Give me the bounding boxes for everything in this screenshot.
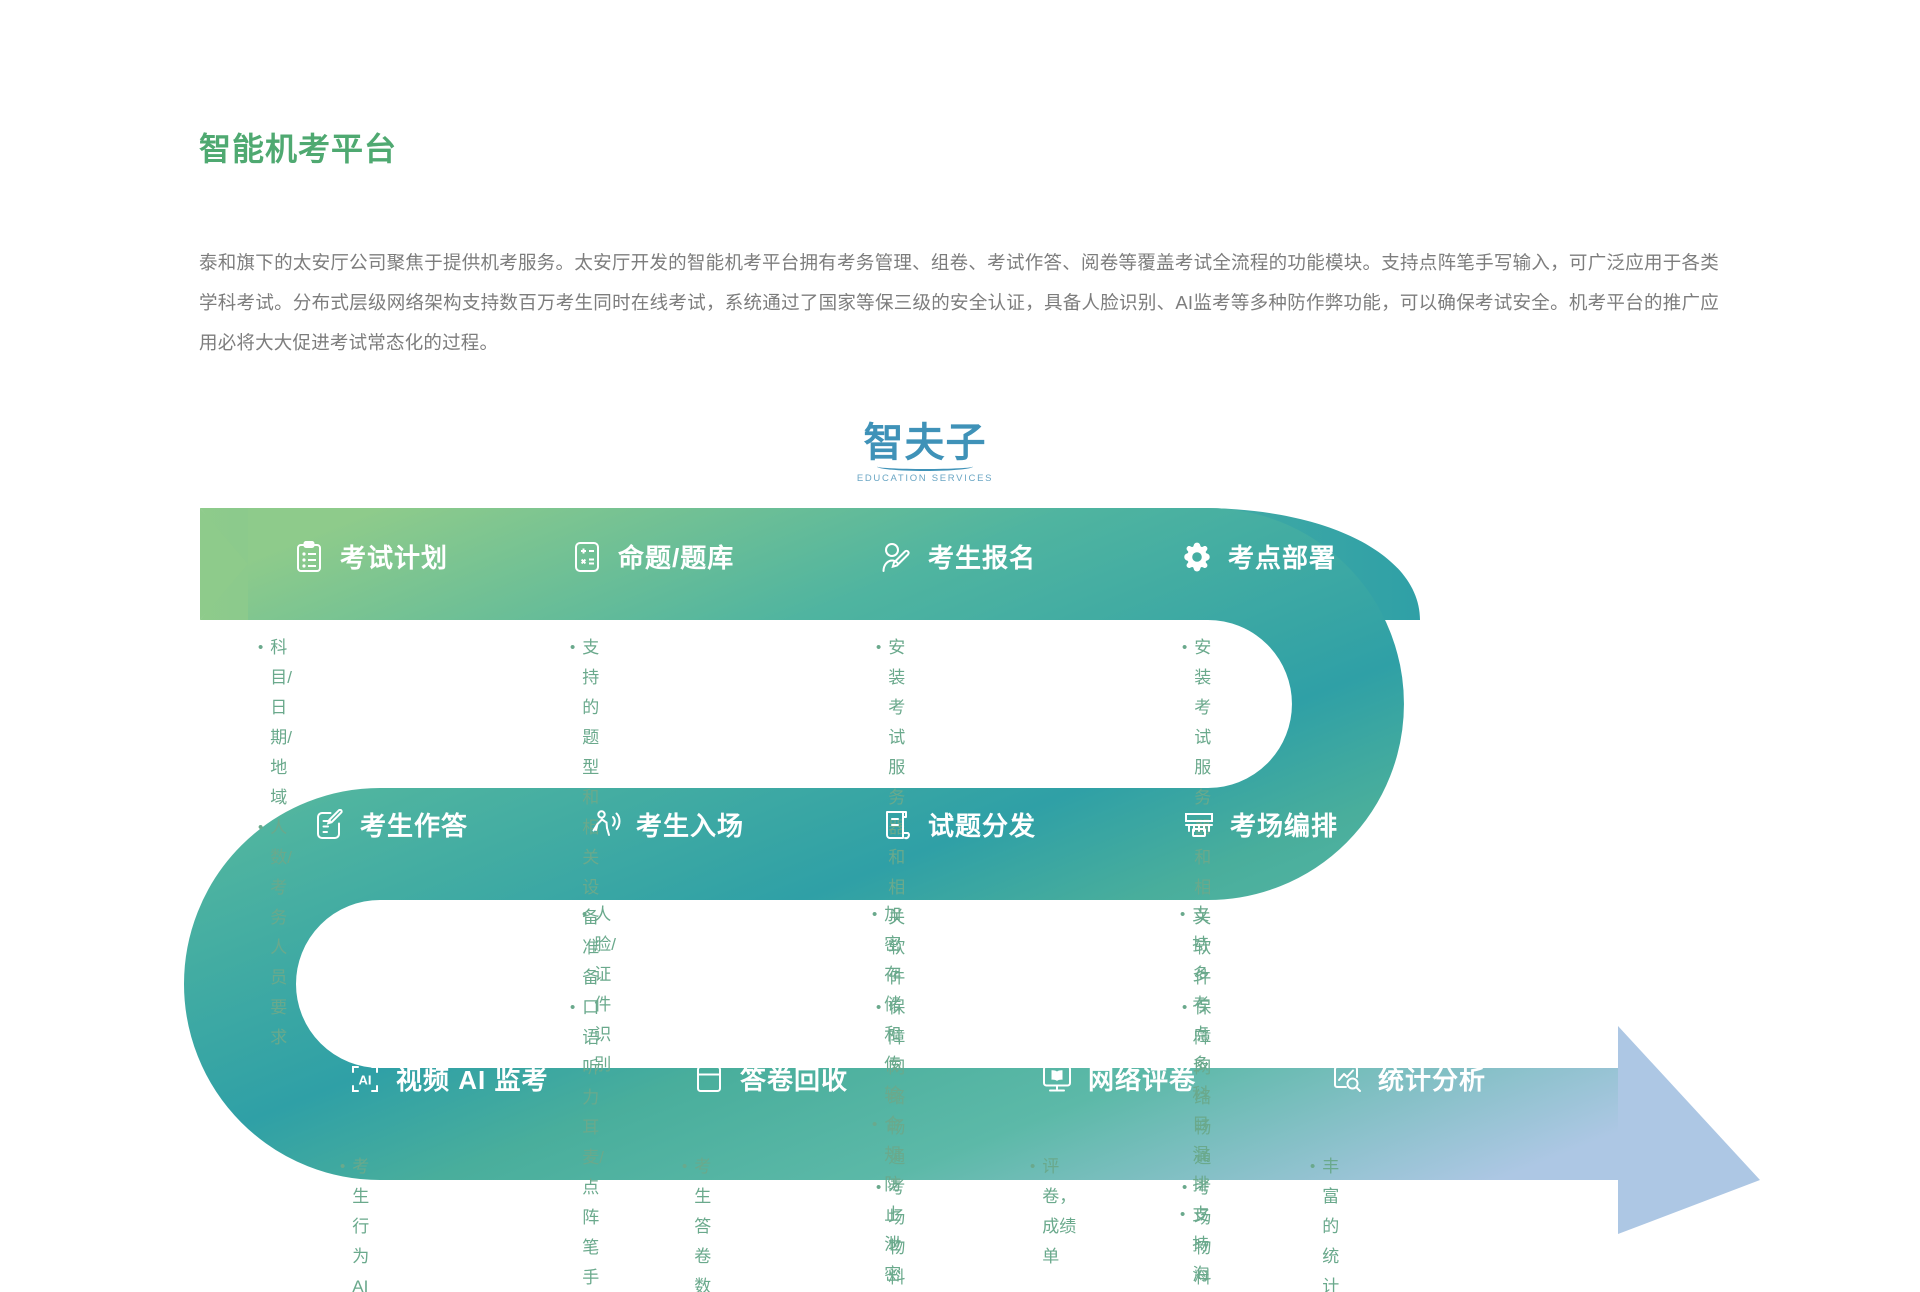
bullet-dot-icon: • (872, 1110, 877, 1140)
flow-step-label: 视频 AI 监考 (396, 1060, 548, 1097)
flow-step-bullets: •丰富的统计分析内容 对命题和考生评价提供支持 (1310, 1152, 1339, 1292)
bullet-item: •支持海量考生同时考试 (1180, 1200, 1209, 1292)
bullet-dot-icon: • (682, 1152, 687, 1182)
bullet-text: 合规防止泄密和不当使用 (884, 1110, 901, 1292)
flow-step-header: 考生报名 (880, 538, 1036, 575)
chart-search-icon (1330, 1062, 1364, 1096)
bullet-item: •考生答卷数据完整性保障 (682, 1152, 711, 1292)
bullet-dot-icon: • (258, 813, 263, 843)
calculator-icon (570, 540, 604, 574)
bullet-item: •评卷，成绩单 (1030, 1152, 1076, 1272)
page-root: 智能机考平台 泰和旗下的太安厅公司聚焦于提供机考服务。太安厅开发的智能机考平台拥… (0, 0, 1920, 1292)
bullet-dot-icon: • (1180, 1200, 1185, 1230)
bullet-text: 考生行为AI分析自动预警 (352, 1152, 369, 1292)
bullet-item: •考生行为AI分析自动预警 (340, 1152, 369, 1292)
person-walking-icon (588, 808, 622, 842)
logo-wordmark: 智夫子 (855, 420, 995, 466)
scroll-icon (880, 808, 914, 842)
bullet-dot-icon: • (570, 993, 575, 1023)
bullet-dot-icon: • (1030, 1152, 1035, 1182)
monitor-book-icon (1040, 1062, 1074, 1096)
flow-step-header: AI 视频 AI 监考 (348, 1060, 548, 1097)
flow-step-label: 统计分析 (1378, 1060, 1486, 1097)
flow-step-bullets: •考生答卷数据完整性保障 (682, 1152, 711, 1292)
bullet-dot-icon: • (340, 1152, 345, 1182)
flow-step-label: 考点部署 (1228, 538, 1336, 575)
flow-step-bullets: •评卷，成绩单 (1030, 1152, 1076, 1272)
bullet-text: 评卷，成绩单 (1042, 1152, 1076, 1272)
svg-text:AI: AI (359, 1072, 372, 1087)
bullet-dot-icon: • (876, 633, 881, 663)
flow-step-label: 答卷回收 (740, 1060, 848, 1097)
flow-step-label: 考生报名 (928, 538, 1036, 575)
flow-step-bullets: •人脸/证件识别 (582, 900, 616, 1080)
bullet-dot-icon: • (570, 633, 575, 663)
flow-step-header: 考点部署 (1180, 538, 1336, 575)
bullet-text: 人脸/证件识别 (594, 900, 616, 1080)
flow-step-header: 答卷回收 (692, 1060, 848, 1097)
gear-icon (1180, 540, 1214, 574)
bullet-text: 支持海量考生同时考试 (1192, 1200, 1209, 1292)
bullet-text: 人数/考务人员要求 (270, 813, 292, 1053)
bullet-dot-icon: • (582, 900, 587, 930)
flow-step-label: 网络评卷 (1088, 1060, 1196, 1097)
seating-icon (1182, 808, 1216, 842)
bullet-text: 加密存储和传输 (884, 900, 901, 1110)
bullet-text: 丰富的统计分析内容 对命题和考生评价提供支持 (1322, 1152, 1339, 1292)
bullet-dot-icon: • (1310, 1152, 1315, 1182)
flow-step-label: 考试计划 (340, 538, 448, 575)
bullet-dot-icon: • (872, 900, 877, 930)
flow-step-header: 统计分析 (1330, 1060, 1486, 1097)
bullet-item: •丰富的统计分析内容 对命题和考生评价提供支持 (1310, 1152, 1339, 1292)
bullet-dot-icon: • (1182, 633, 1187, 663)
ai-bracket-icon: AI (348, 1062, 382, 1096)
flow-step-label: 考场编排 (1230, 806, 1338, 843)
brand-logo: 智夫子 EDUCATION SERVICES (855, 420, 995, 484)
bullet-text: 科目/日期/地域 (270, 633, 292, 813)
page-title: 智能机考平台 (199, 124, 397, 170)
flow-step-header: 试题分发 (880, 806, 1036, 843)
flow-step-label: 试题分发 (928, 806, 1036, 843)
flow-step-header: 考生入场 (588, 806, 744, 843)
bullet-dot-icon: • (258, 633, 263, 663)
bullet-dot-icon: • (1180, 900, 1185, 930)
bullet-item: •人脸/证件识别 (582, 900, 616, 1080)
flow-step-bullets: •加密存储和传输 •合规防止泄密和不当使用 (872, 900, 901, 1292)
archive-box-icon (692, 1062, 726, 1096)
bullet-text: 支持多考点多科目混排 (1192, 900, 1209, 1200)
intro-paragraph: 泰和旗下的太安厅公司聚焦于提供机考服务。太安厅开发的智能机考平台拥有考务管理、组… (199, 243, 1719, 363)
flow-step-header: 考场编排 (1182, 806, 1338, 843)
bullet-item: •科目/日期/地域 (258, 633, 292, 813)
bullet-item: •加密存储和传输 (872, 900, 901, 1110)
flow-step-bullets: •科目/日期/地域 •人数/考务人员要求 (258, 633, 292, 1053)
flow-step-label: 考生作答 (360, 806, 468, 843)
flow-step-header: 网络评卷 (1040, 1060, 1196, 1097)
ribbon-serpentine (200, 508, 1760, 1234)
flow-step-header: 考生作答 (312, 806, 468, 843)
clipboard-icon (292, 540, 326, 574)
user-edit-icon (880, 540, 914, 574)
bullet-item: •合规防止泄密和不当使用 (872, 1110, 901, 1292)
flow-step-label: 考生入场 (636, 806, 744, 843)
flow-step-label: 命题/题库 (618, 538, 734, 575)
flow-step-header: 考试计划 (292, 538, 448, 575)
flow-step-header: 命题/题库 (570, 538, 734, 575)
flow-step-bullets: •考生行为AI分析自动预警 •考生作答轨迹留存 (340, 1152, 369, 1292)
bullet-item: •支持多考点多科目混排 (1180, 900, 1209, 1200)
bullet-item: •人数/考务人员要求 (258, 813, 292, 1053)
bullet-text: 考生答卷数据完整性保障 (694, 1152, 711, 1292)
answer-sheet-icon (312, 808, 346, 842)
